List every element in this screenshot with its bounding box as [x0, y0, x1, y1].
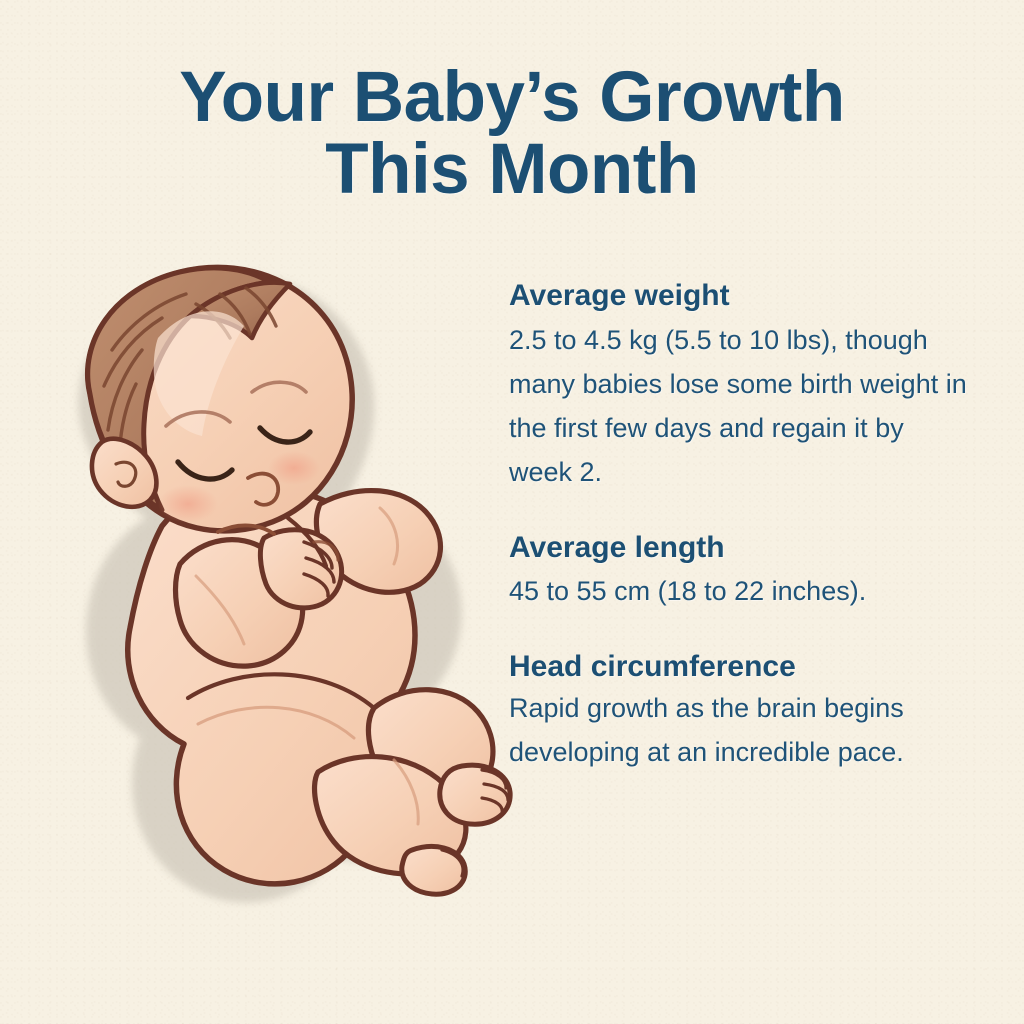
blush-left — [158, 485, 218, 523]
growth-facts-list: Average weight 2.5 to 4.5 kg (5.5 to 10 … — [509, 278, 971, 774]
title-line-1: Your Baby’s Growth — [0, 62, 1024, 134]
blush-right — [268, 451, 320, 485]
body-average-weight: 2.5 to 4.5 kg (5.5 to 10 lbs), though ma… — [509, 319, 971, 494]
title-line-2: This Month — [0, 134, 1024, 206]
upper-foot — [440, 765, 510, 824]
body-average-length: 45 to 55 cm (18 to 22 inches). — [509, 570, 971, 614]
infographic-canvas: Your Baby’s Growth This Month — [0, 0, 1024, 1024]
section-head-circumference: Head circumference Rapid growth as the b… — [509, 649, 971, 774]
heading-average-weight: Average weight — [509, 278, 971, 313]
section-average-weight: Average weight 2.5 to 4.5 kg (5.5 to 10 … — [509, 278, 971, 494]
heading-head-circumference: Head circumference — [509, 649, 971, 684]
section-average-length: Average length 45 to 55 cm (18 to 22 inc… — [509, 530, 971, 613]
sleeping-baby-illustration — [28, 252, 528, 942]
page-title: Your Baby’s Growth This Month — [0, 62, 1024, 207]
heading-average-length: Average length — [509, 530, 971, 565]
lower-foot — [402, 846, 465, 894]
body-head-circumference: Rapid growth as the brain begins develop… — [509, 687, 971, 774]
